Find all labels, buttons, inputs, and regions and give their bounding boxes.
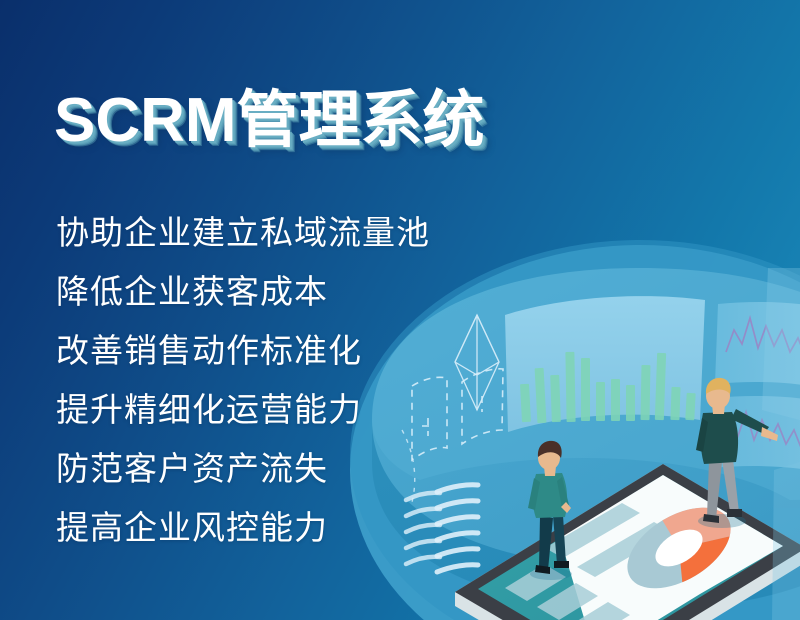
bar-chart-panel xyxy=(505,296,705,432)
illustration-artwork xyxy=(0,0,800,620)
scrm-promo-banner: SCRM管理系统 协助企业建立私域流量池 降低企业获客成本 改善销售动作标准化 … xyxy=(0,0,800,620)
